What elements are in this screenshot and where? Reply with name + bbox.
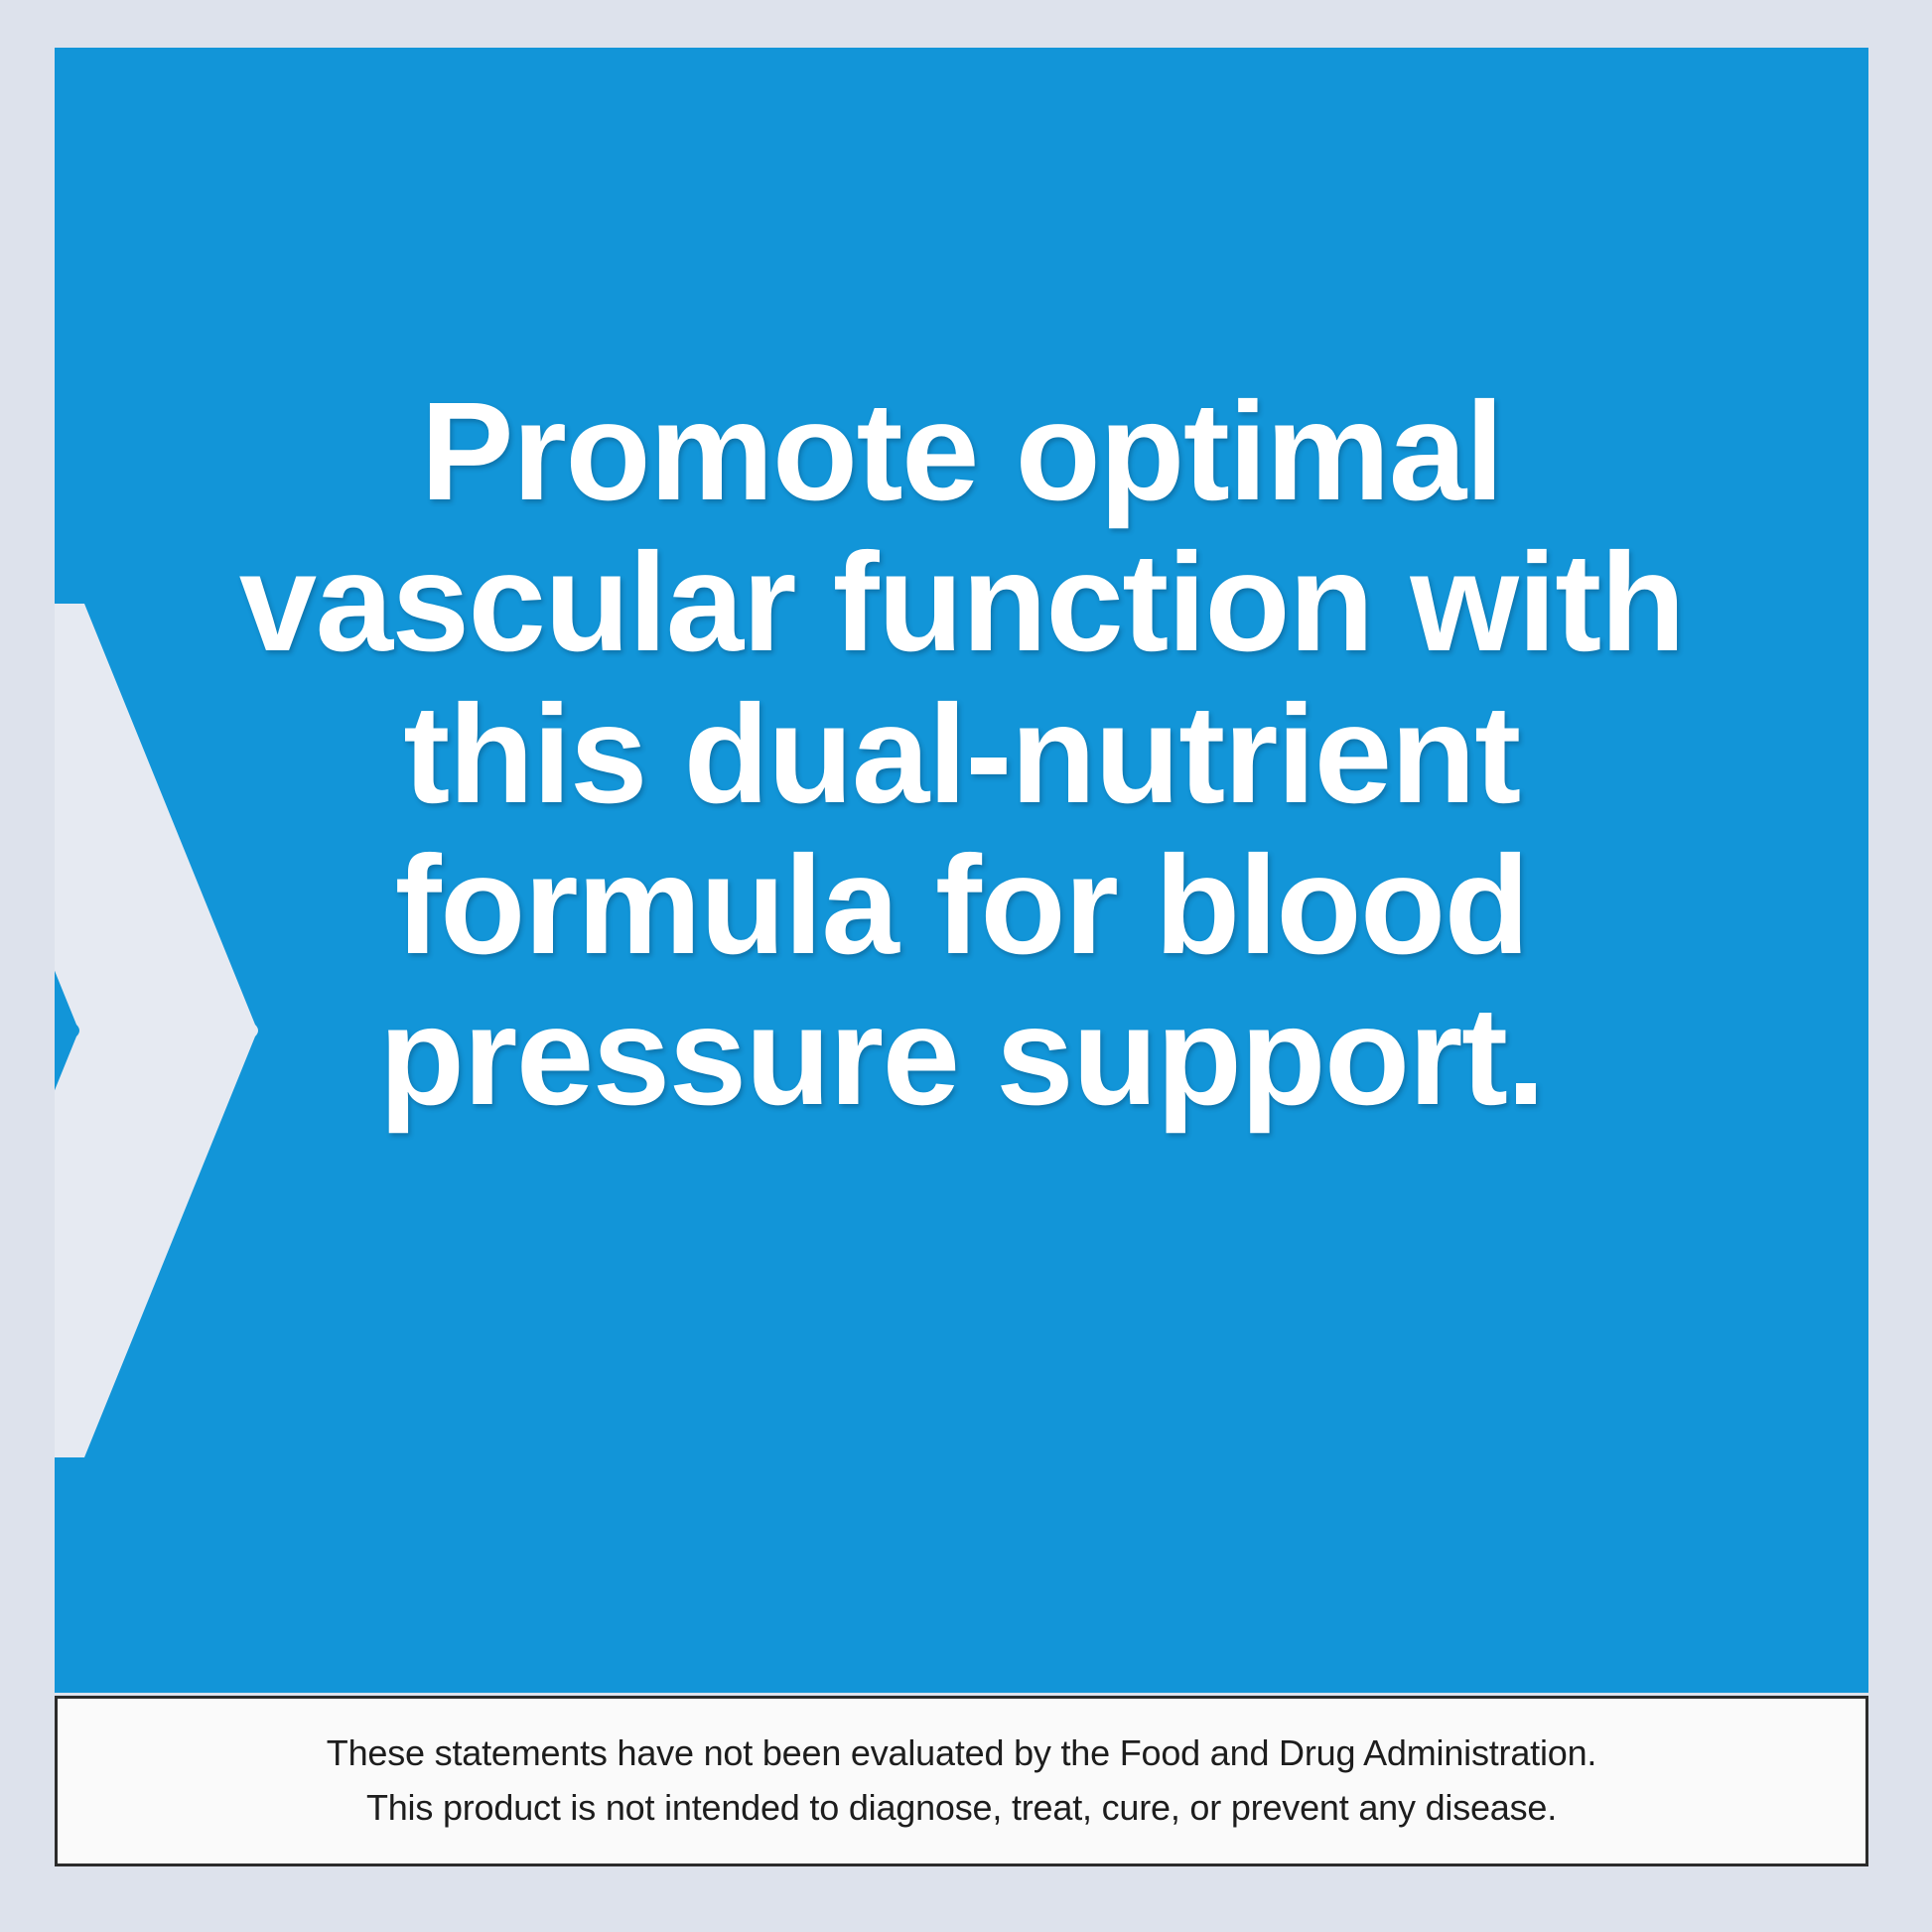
disclaimer-line-1: These statements have not been evaluated…: [327, 1726, 1596, 1781]
headline-line-4: formula for blood: [204, 829, 1720, 980]
disclaimer-line-2: This product is not intended to diagnose…: [366, 1781, 1557, 1836]
headline-line-2: vascular function with: [204, 526, 1720, 677]
headline-line-5: pressure support.: [204, 980, 1720, 1131]
page-title: Promote optimal vascular function with t…: [55, 375, 1868, 1131]
headline-line-3: this dual-nutrient: [204, 678, 1720, 829]
fda-disclaimer-box: These statements have not been evaluated…: [55, 1696, 1868, 1866]
headline-line-1: Promote optimal: [204, 375, 1720, 526]
product-claim-graphic: Promote optimal vascular function with t…: [0, 0, 1932, 1932]
hero-panel: Promote optimal vascular function with t…: [55, 48, 1868, 1693]
